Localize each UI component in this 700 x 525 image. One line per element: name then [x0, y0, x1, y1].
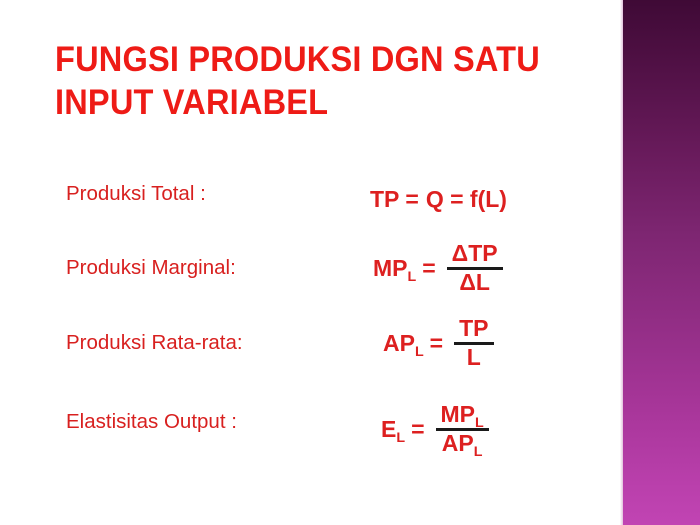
- formula-lhs: APL: [383, 330, 424, 357]
- formula-expression: TP = Q = f(L): [370, 186, 507, 213]
- formula-lhs: TP: [370, 186, 399, 213]
- formula-label: Elastisitas Output :: [66, 410, 237, 434]
- formula-lhs-subscript: L: [396, 430, 405, 446]
- equals-sign: =: [422, 255, 435, 282]
- page-title: FUNGSI PRODUKSI DGN SATU INPUT VARIABEL: [55, 38, 562, 124]
- page-title-line-1: FUNGSI PRODUKSI DGN SATU: [55, 38, 562, 81]
- formula-lhs: EL: [381, 416, 405, 443]
- formula-expression: APL = TP L: [383, 317, 494, 370]
- formula-inline-rhs: Q = f(L): [426, 186, 507, 213]
- fraction-numerator: ΔTP: [447, 242, 503, 265]
- numerator-base: ΔTP: [452, 240, 498, 266]
- denominator-base: ΔL: [459, 269, 490, 295]
- fraction-denominator: ΔL: [454, 271, 495, 294]
- fraction-denominator: L: [462, 346, 486, 369]
- formula-lhs-base: MP: [373, 255, 408, 281]
- formula-label: Produksi Rata-rata:: [66, 331, 243, 355]
- formula-expression: EL = MPL APL: [381, 403, 489, 456]
- numerator-subscript: L: [475, 415, 484, 431]
- formula-lhs-base: AP: [383, 330, 415, 356]
- denominator-subscript: L: [474, 444, 483, 460]
- denominator-base: L: [467, 344, 481, 370]
- fraction: TP L: [454, 317, 493, 370]
- numerator-base: MP: [441, 401, 476, 427]
- formula-lhs-subscript: L: [415, 344, 424, 360]
- fraction-numerator: TP: [454, 317, 493, 340]
- formula-lhs-base: E: [381, 416, 396, 442]
- formula-label: Produksi Total :: [66, 182, 206, 206]
- denominator-base: AP: [442, 430, 474, 456]
- formula-lhs: MPL: [373, 255, 416, 282]
- decorative-side-band: [623, 0, 700, 525]
- formula-expression: MPL = ΔTP ΔL: [373, 242, 503, 295]
- slide-canvas: FUNGSI PRODUKSI DGN SATU INPUT VARIABEL …: [0, 0, 700, 525]
- formula-list: Produksi Total : TP = Q = f(L) Produksi …: [0, 168, 620, 498]
- numerator-base: TP: [459, 315, 488, 341]
- formula-lhs-subscript: L: [408, 269, 417, 285]
- equals-sign: =: [405, 186, 418, 213]
- fraction-numerator: MPL: [436, 403, 489, 426]
- fraction: MPL APL: [436, 403, 489, 456]
- fraction: ΔTP ΔL: [447, 242, 503, 295]
- equals-sign: =: [411, 416, 424, 443]
- fraction-denominator: APL: [437, 432, 488, 455]
- equals-sign: =: [430, 330, 443, 357]
- formula-label: Produksi Marginal:: [66, 256, 236, 280]
- page-title-line-2: INPUT VARIABEL: [55, 81, 562, 124]
